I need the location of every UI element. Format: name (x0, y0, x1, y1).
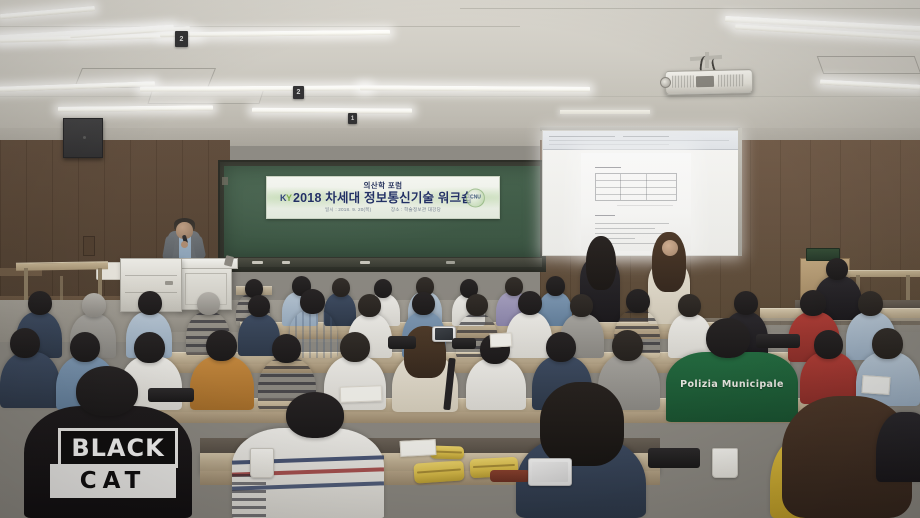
screen-top-overflow (543, 131, 739, 150)
audience-head (332, 278, 350, 297)
audience-head (374, 279, 392, 298)
polizia-shirt: Polizia Municipale (666, 352, 798, 422)
bag (648, 448, 700, 468)
audience-head (826, 258, 848, 280)
handout (490, 332, 513, 347)
ceiling-marker-2: 2 (175, 31, 188, 47)
pouch (490, 470, 530, 482)
audience-head (138, 291, 162, 315)
ceiling-marker-label: 2 (180, 36, 184, 43)
ceiling-seam (0, 26, 520, 27)
audience-head (872, 328, 903, 359)
audience-head (678, 294, 701, 317)
wall-speaker (63, 118, 103, 158)
handout (340, 385, 383, 402)
side-table-leg (24, 268, 28, 302)
audience-head (300, 289, 325, 314)
notebook (756, 334, 800, 348)
slide-table (595, 173, 677, 201)
paper-cup[interactable] (712, 448, 738, 478)
notebook (388, 336, 416, 349)
banner-sub-line: 일시 : 2018. 9. 20(목) 장소 : 학술정보관 대강당 (293, 208, 473, 213)
audience-head (518, 291, 542, 315)
audience-head (70, 332, 100, 362)
audience-head (358, 294, 381, 317)
audience-head (814, 330, 843, 359)
audience-head (76, 366, 138, 416)
audience-head (800, 290, 826, 316)
ceiling-marker-1: 1 (348, 113, 357, 124)
audience-head (197, 292, 220, 315)
standing-person-hair (586, 236, 616, 290)
ceiling-marker-label: 2 (297, 89, 301, 96)
handout (861, 375, 890, 395)
banner-date: 일시 : 2018. 9. 20(목) (325, 207, 371, 212)
audience-torso (466, 358, 526, 410)
sleeve-stripes (232, 474, 266, 518)
ceiling-seam (0, 96, 920, 97)
screen-edge (738, 128, 742, 256)
side-table (16, 261, 108, 271)
audience-head (28, 291, 52, 315)
audience-torso (190, 356, 254, 410)
audience-head (412, 292, 435, 315)
projection-screen (542, 130, 740, 256)
right-bench-leg (906, 275, 910, 301)
standing-person-head (662, 240, 678, 256)
lecture-hall-photo: 2 2 1 KY (0, 0, 920, 518)
audience-head (505, 277, 523, 296)
audience-head (10, 328, 40, 358)
audience-head (706, 318, 750, 358)
notebook (452, 338, 476, 349)
audience-head (546, 276, 565, 296)
ceiling-light (560, 110, 650, 114)
black-cat-jacket: BLACK CAT (24, 406, 192, 518)
pencil-case[interactable] (413, 460, 464, 483)
wall-bracket (83, 236, 95, 256)
audience-head (82, 293, 106, 317)
polizia-shirt-text: Polizia Municipale (680, 379, 784, 390)
audience-head (466, 294, 488, 316)
notebook (148, 388, 194, 402)
chalk-tray (222, 258, 542, 267)
workshop-banner: KY 의산학 포럼 2018 차세대 정보통신기술 워크숍 일시 : 2018.… (266, 176, 500, 219)
handout (400, 439, 437, 457)
ceiling-marker-2b: 2 (293, 86, 304, 99)
audience-head (206, 330, 237, 361)
audience-head (286, 392, 344, 438)
side-table-leg (60, 276, 63, 300)
cnu-logo: CNU (466, 188, 485, 207)
banner-main-line: 2018 차세대 정보통신기술 워크숍 (293, 192, 473, 205)
ceiling-light (252, 108, 412, 114)
ceiling-marker-label: 1 (351, 116, 354, 122)
projector (665, 69, 753, 95)
black-cat-bottom-text: CAT (50, 464, 176, 498)
audience-head (272, 334, 301, 363)
board-clip (222, 177, 228, 185)
presenter-hand (181, 241, 188, 248)
audience-head (340, 332, 370, 362)
audience-torso (0, 352, 60, 408)
audience-head (612, 330, 643, 361)
audience-head (858, 291, 883, 316)
audience-torso (506, 312, 552, 358)
tablet-device[interactable] (528, 458, 572, 486)
paper-cup[interactable] (250, 448, 274, 478)
audience-head (248, 295, 270, 317)
banner-venue: 장소 : 학술정보관 대강당 (391, 207, 441, 212)
audience-head (134, 332, 165, 363)
ceiling-seam (460, 8, 920, 9)
audience-head (734, 291, 758, 315)
black-cat-top-text: BLACK (58, 428, 178, 468)
audience-head (546, 332, 576, 362)
banner-top-line: 의산학 포럼 (293, 182, 473, 190)
ky-logo: KY (280, 193, 292, 203)
projector-lens (660, 77, 671, 88)
ceiling-vent (817, 56, 920, 74)
audience-head (626, 289, 650, 313)
audience-hair-long (540, 382, 624, 466)
audience-head (570, 294, 593, 317)
